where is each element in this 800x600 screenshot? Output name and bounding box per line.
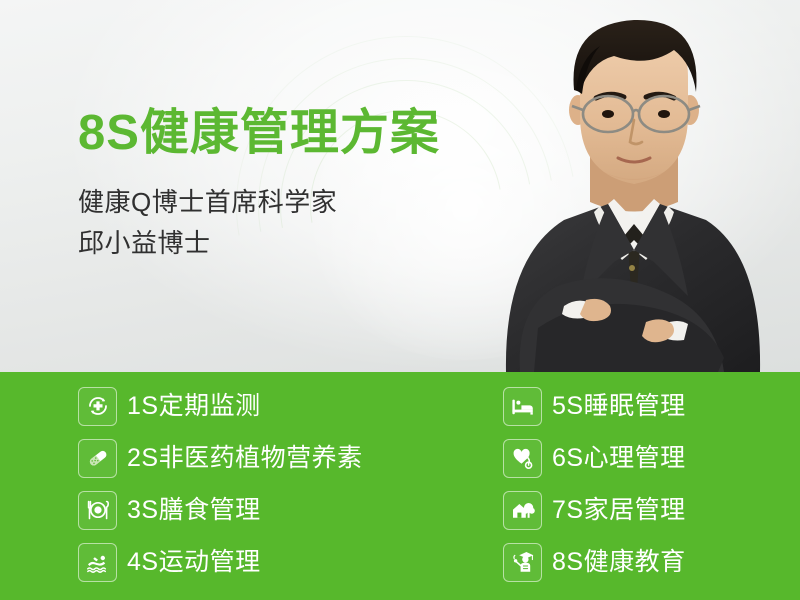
- poster-root: 8S健康管理方案 健康Q博士首席科学家 邱小益博士: [0, 0, 800, 600]
- service-column-left: 1S定期监测: [78, 380, 363, 588]
- page-title: 8S健康管理方案: [78, 104, 440, 163]
- swimmer-icon: [78, 543, 117, 582]
- list-item[interactable]: 6S心理管理: [503, 432, 686, 484]
- list-item[interactable]: 1S定期监测: [78, 380, 363, 432]
- house-tree-icon: [503, 491, 542, 530]
- subtitle-line-1: 健康Q博士首席科学家: [78, 182, 337, 223]
- service-column-right: 5S睡眠管理 6S心理管理: [503, 380, 686, 588]
- subtitle-line-2: 邱小益博士: [78, 223, 337, 264]
- list-item-label: 1S定期监测: [127, 394, 261, 419]
- list-item-label: 6S心理管理: [552, 446, 686, 471]
- page-subtitle: 健康Q博士首席科学家 邱小益博士: [78, 182, 337, 264]
- list-item[interactable]: 5S睡眠管理: [503, 380, 686, 432]
- list-item-label: 7S家居管理: [552, 498, 686, 523]
- capsule-pill-icon: [78, 439, 117, 478]
- service-list-panel: 1S定期监测: [0, 372, 800, 600]
- bed-icon: [503, 387, 542, 426]
- hero-section: 8S健康管理方案 健康Q博士首席科学家 邱小益博士: [0, 0, 800, 372]
- plate-cutlery-icon: [78, 491, 117, 530]
- list-item-label: 8S健康教育: [552, 550, 686, 575]
- heart-stethoscope-icon: [503, 439, 542, 478]
- portrait-photo: [468, 6, 800, 372]
- list-item-label: 5S睡眠管理: [552, 394, 686, 419]
- list-item[interactable]: 2S非医药植物营养素: [78, 432, 363, 484]
- list-item-label: 4S运动管理: [127, 550, 261, 575]
- list-item[interactable]: 4S运动管理: [78, 536, 363, 588]
- medical-cross-icon: [78, 387, 117, 426]
- list-item[interactable]: 3S膳食管理: [78, 484, 363, 536]
- list-item-label: 3S膳食管理: [127, 498, 261, 523]
- list-item[interactable]: 7S家居管理: [503, 484, 686, 536]
- graduate-teacher-icon: [503, 543, 542, 582]
- list-item[interactable]: 8S健康教育: [503, 536, 686, 588]
- list-item-label: 2S非医药植物营养素: [127, 446, 363, 471]
